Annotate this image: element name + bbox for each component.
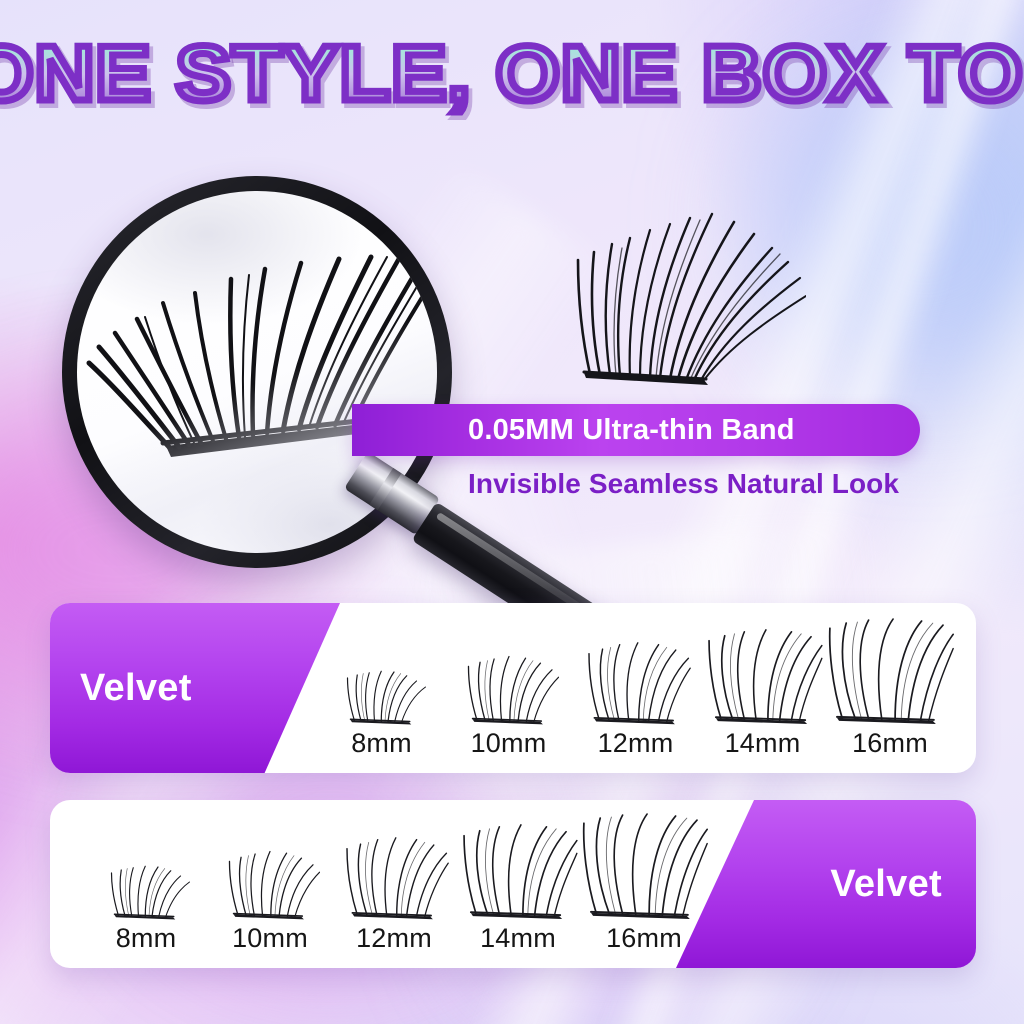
size-label: 14mm	[480, 923, 556, 954]
size-label: 10mm	[232, 923, 308, 954]
size-list-bottom: 8mm 10mm 12mm 14mm 16mm	[84, 800, 708, 968]
size-item: 8mm	[318, 648, 445, 773]
size-item: 8mm	[84, 843, 208, 968]
size-item: 10mm	[208, 835, 332, 968]
page-title: ONE STYLE, ONE BOX TO SHINE	[0, 34, 1024, 112]
brand-block-bottom: Velvet	[676, 800, 976, 968]
lash-cluster-icon	[556, 168, 806, 393]
brand-block-top: Velvet	[50, 603, 340, 773]
size-label: 8mm	[351, 728, 412, 759]
brand-name-bottom: Velvet	[830, 863, 942, 906]
feature-badge: 0.05MM Ultra-thin Band	[352, 404, 920, 456]
size-label: 16mm	[606, 923, 682, 954]
size-item: 14mm	[699, 624, 826, 773]
brand-name-top: Velvet	[80, 667, 192, 710]
size-label: 16mm	[852, 728, 928, 759]
size-item: 16mm	[580, 811, 708, 968]
product-infographic: ONE STYLE, ONE BOX TO SHINE ONE STYLE, O…	[0, 0, 1024, 1024]
size-label: 8mm	[116, 923, 177, 954]
size-item: 14mm	[456, 819, 580, 968]
size-item: 16mm	[826, 616, 954, 773]
feature-subtitle: Invisible Seamless Natural Look	[468, 468, 988, 500]
size-item: 12mm	[572, 632, 699, 773]
size-label: 12mm	[356, 923, 432, 954]
size-card-top: Velvet 8mm 10mm 12mm 14mm 16mm	[50, 603, 976, 773]
size-item: 10mm	[445, 640, 572, 773]
size-label: 10mm	[471, 728, 547, 759]
size-label: 14mm	[725, 728, 801, 759]
size-list-top: 8mm 10mm 12mm 14mm 16mm	[318, 603, 954, 773]
size-label: 12mm	[598, 728, 674, 759]
size-item: 12mm	[332, 827, 456, 968]
size-card-bottom: Velvet 8mm 10mm 12mm 14mm 16mm	[50, 800, 976, 968]
feature-badge-label: 0.05MM Ultra-thin Band	[468, 414, 795, 447]
